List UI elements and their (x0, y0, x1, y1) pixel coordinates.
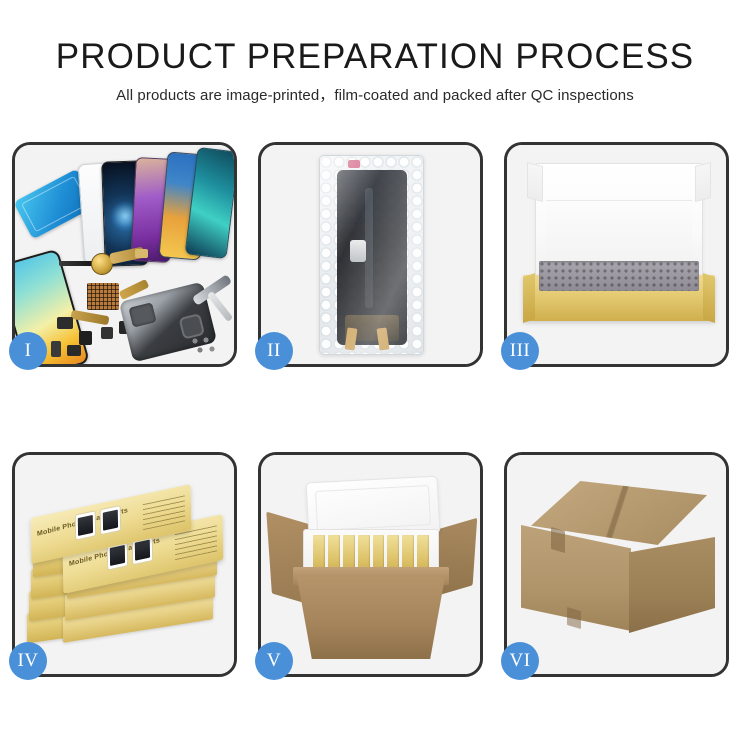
lid-spec-lines-back (143, 493, 185, 530)
gold-box-tray (523, 275, 715, 321)
process-step-panel-3: III (504, 142, 729, 367)
step-1-image (15, 145, 234, 364)
process-step-panel-1: I (12, 142, 237, 367)
step-badge-2: II (255, 332, 293, 370)
ic-chip-part-5 (51, 341, 61, 357)
carton-side-face (629, 537, 715, 633)
process-step-panel-5: V (258, 452, 483, 677)
process-step-panel-4: Mobile Phone Spare Parts Mobile Phone Sp… (12, 452, 237, 677)
step-6-image (507, 455, 726, 674)
step-5-image (261, 455, 480, 674)
page-subtitle: All products are image-printed，film-coat… (0, 85, 750, 107)
bubble-wrap-package (319, 155, 424, 355)
spare-parts-cluster (15, 145, 234, 364)
small-connector-part (135, 249, 148, 258)
screws-group (191, 337, 217, 355)
step-badge-6: VI (501, 642, 539, 680)
chip-array-part (87, 283, 119, 310)
carton-tape-mark-bottom (567, 607, 581, 629)
lid-phone-artwork-back (75, 504, 125, 540)
step-4-image: Mobile Phone Spare Parts Mobile Phone Sp… (15, 455, 234, 674)
grey-foam-insert (539, 261, 699, 291)
gold-box-stack: Mobile Phone Spare Parts Mobile Phone Sp… (23, 475, 227, 665)
page-header: PRODUCT PREPARATION PROCESS All products… (0, 0, 750, 130)
ic-chip-part-1 (57, 317, 73, 329)
ic-chip-part-3 (101, 327, 113, 339)
step-2-image (261, 145, 480, 364)
lid-flap-right (695, 162, 711, 202)
speaker-module-part (67, 345, 81, 356)
connector-module (350, 240, 366, 262)
step-badge-1: I (9, 332, 47, 370)
tray-corner-right (703, 273, 715, 323)
flex-leg-left (345, 327, 358, 350)
product-preparation-page: PRODUCT PREPARATION PROCESS All products… (0, 0, 750, 750)
page-title: PRODUCT PREPARATION PROCESS (0, 37, 750, 77)
step-badge-5: V (255, 642, 293, 680)
lid-flap-left (527, 162, 543, 202)
process-step-panel-6: VI (504, 452, 729, 677)
open-shipping-carton (271, 471, 471, 661)
open-gold-box (523, 163, 715, 343)
process-step-panel-2: II (258, 142, 483, 367)
lcd-assembly-inside (337, 170, 407, 345)
step-3-image (507, 145, 726, 364)
carton-tape-mark-top (551, 527, 565, 553)
pink-label-tab (348, 160, 360, 168)
lid-phone-image-3 (75, 510, 96, 540)
process-step-grid: I II (0, 130, 750, 690)
ic-chip-part-2 (79, 331, 92, 345)
flex-cable-part-2 (71, 310, 110, 325)
carton-body (297, 577, 445, 659)
lid-phone-image-4 (100, 505, 121, 535)
step-badge-3: III (501, 332, 539, 370)
tray-corner-left (523, 273, 535, 323)
step-badge-4: IV (9, 642, 47, 680)
sealed-carton (521, 481, 717, 651)
